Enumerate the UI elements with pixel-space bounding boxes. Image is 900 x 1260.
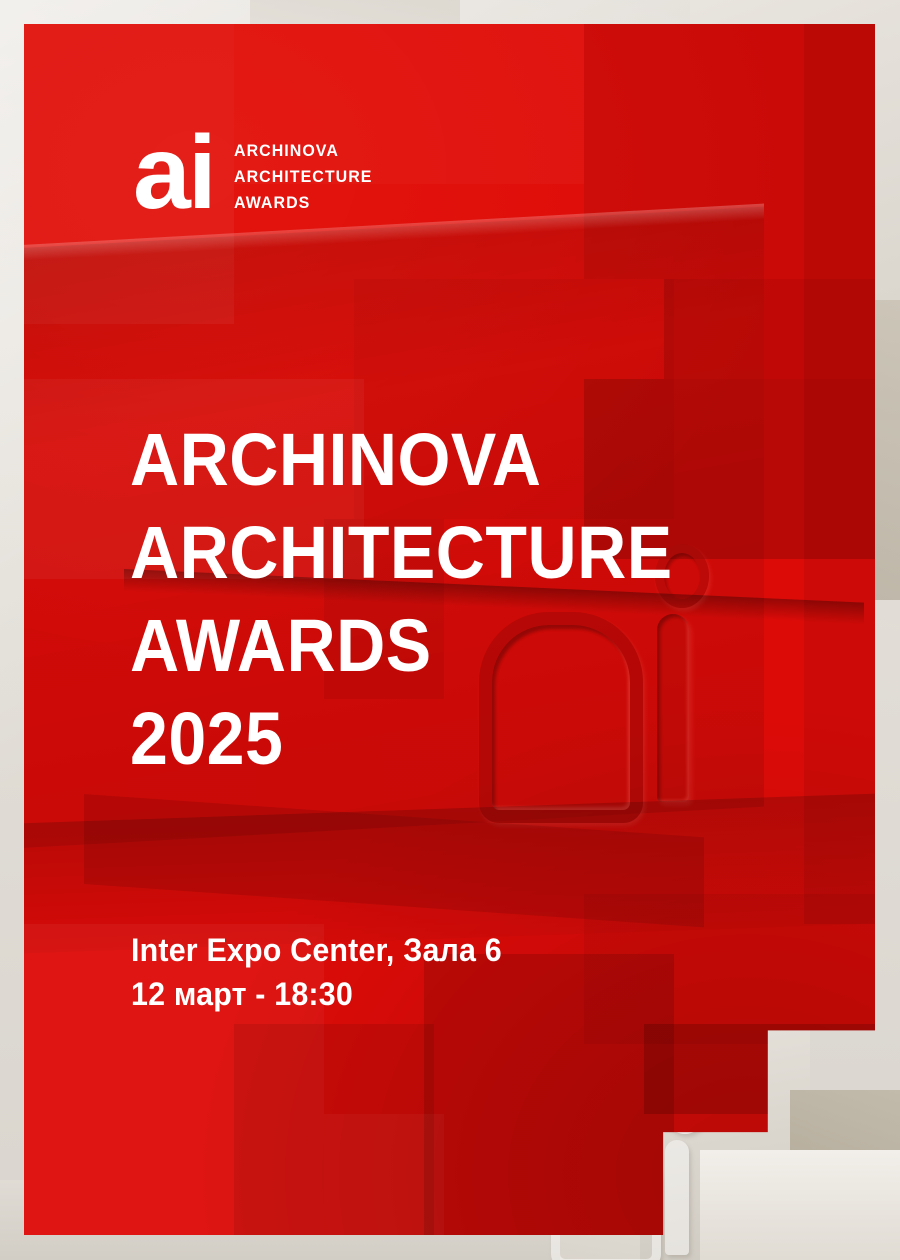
brand-word-awards: AWARDS [234, 194, 372, 211]
event-details: Inter Expo Center, Зала 6 12 март - 18:3… [131, 928, 521, 1016]
ai-logo-icon: ai [133, 131, 214, 216]
brand-logo-lockup: ai ARCHINOVA ARCHITECTURE AWARDS [133, 131, 381, 216]
headline-line-archinova: ARCHINOVA [130, 413, 673, 506]
poster-root: ai ARCHINOVA ARCHITECTURE AWARDS ARCHINO… [0, 0, 900, 1260]
headline-line-awards: AWARDS [130, 599, 673, 692]
poster-content: ai ARCHINOVA ARCHITECTURE AWARDS ARCHINO… [0, 0, 900, 1260]
headline-line-year: 2025 [130, 692, 673, 785]
event-venue: Inter Expo Center, Зала 6 [131, 928, 502, 972]
headline-line-architecture: ARCHITECTURE [130, 506, 673, 599]
brand-word-archinova: ARCHINOVA [234, 142, 372, 159]
event-datetime: 12 март - 18:30 [131, 972, 502, 1016]
brand-logo-wordmark: ARCHINOVA ARCHITECTURE AWARDS [234, 136, 381, 211]
brand-word-architecture: ARCHITECTURE [234, 168, 372, 185]
page-title: ARCHINOVA ARCHITECTURE AWARDS 2025 [130, 413, 720, 785]
